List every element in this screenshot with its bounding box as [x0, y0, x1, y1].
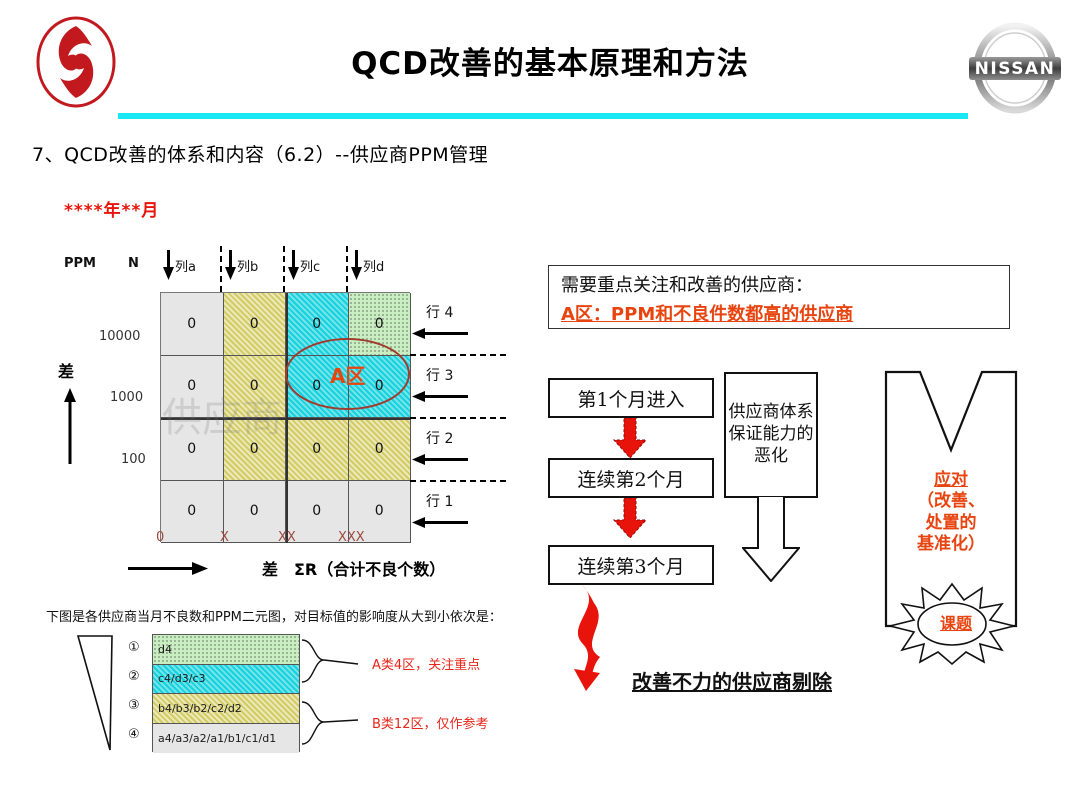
a-zone-label: A区 — [330, 360, 365, 389]
row-threshold-line — [410, 354, 506, 356]
red-down-arrow-icon — [613, 418, 647, 458]
legend-table: d4 c4/d3/c3 b4/b3/b2/c2/d2 a4/a3/a2/a1/b… — [152, 634, 300, 752]
row-label-4: 行 4 — [426, 302, 453, 322]
task-label: 课题 — [932, 610, 980, 634]
title-divider — [118, 113, 968, 119]
response-line-2: （改善、 — [898, 491, 1004, 512]
row-threshold-line — [410, 417, 506, 419]
column-header-c: 列c — [285, 246, 347, 292]
grid-center-hline — [161, 418, 411, 420]
legend-row[interactable]: b4/b3/b2/c2/d2 — [153, 694, 299, 724]
down-arrow-icon — [351, 250, 362, 280]
matrix-cell[interactable]: 0 — [224, 356, 287, 419]
column-label: 列c — [300, 256, 320, 275]
down-arrow-icon — [163, 250, 174, 280]
y-axis-up-arrow-icon — [63, 388, 77, 464]
column-header-a: 列a — [160, 246, 222, 292]
outcome-text: 改善不力的供应商剔除 — [622, 670, 842, 695]
deterioration-box: 供应商体系保证能力的恶化 — [724, 372, 818, 498]
x-axis-right-arrow-icon — [128, 562, 208, 575]
legend-number-4: ④ — [128, 727, 148, 742]
legend-note: 下图是各供应商当月不良数和PPM二元图，对目标值的影响度从大到小依次是： — [46, 606, 502, 625]
y-tick-100: 100 — [121, 452, 146, 467]
y-tick-1000: 1000 — [110, 390, 143, 405]
matrix-cell[interactable]: 0 — [349, 418, 412, 481]
row-left-arrow-icon — [412, 454, 468, 465]
matrix-cell[interactable]: 0 — [161, 293, 224, 356]
x-tick-x: X — [220, 530, 229, 545]
focus-callout-box: 需要重点关注和改善的供应商： A区：PPM和不良件数都高的供应商 — [548, 265, 1010, 329]
y-axis-caption: 差 — [58, 358, 74, 382]
matrix-cell[interactable]: 0 — [161, 481, 224, 544]
column-label: 列d — [363, 256, 384, 275]
matrix-cell[interactable]: 0 — [161, 418, 224, 481]
down-block-arrow-icon — [742, 496, 800, 582]
y-tick-10000: 10000 — [99, 329, 140, 344]
down-arrow-icon — [288, 250, 299, 280]
y-axis-unit: N — [128, 256, 139, 271]
column-divider — [283, 246, 285, 292]
row-left-arrow-icon — [412, 517, 468, 528]
column-header-d: 列d — [348, 246, 410, 292]
column-divider — [220, 246, 222, 292]
slide-header: NISSAN QCD改善的基本原理和方法 — [0, 0, 1080, 128]
flow-step-month-3[interactable]: 连续第3个月 — [548, 545, 714, 585]
x-tick-xx: XX — [278, 530, 296, 545]
curved-red-arrow-icon — [560, 585, 626, 691]
x-tick-0: 0 — [156, 530, 164, 545]
flow-step-month-1[interactable]: 第1个月进入 — [548, 378, 714, 418]
nissan-logo-icon: NISSAN — [963, 20, 1067, 116]
row-label-1: 行 1 — [426, 491, 453, 511]
row-label-2: 行 2 — [426, 428, 453, 448]
column-label: 列a — [175, 256, 196, 275]
column-divider — [346, 246, 348, 292]
matrix-cell[interactable]: 0 — [286, 418, 349, 481]
date-stamp: ****年**月 — [64, 196, 159, 221]
ppm-matrix-chart: PPM N 10000 1000 100 差 列a 列b — [40, 230, 540, 590]
row-left-arrow-icon — [412, 391, 468, 402]
page-title: QCD改善的基本原理和方法 — [250, 38, 850, 83]
svg-text:NISSAN: NISSAN — [975, 59, 1056, 79]
row-threshold-line — [410, 480, 506, 482]
legend-row[interactable]: d4 — [153, 635, 299, 665]
legend-number-3: ③ — [128, 698, 148, 713]
legend-row[interactable]: a4/a3/a2/a1/b1/c1/d1 — [153, 724, 299, 754]
x-tick-xxx: XXX — [338, 530, 365, 545]
callout-line-1: 需要重点关注和改善的供应商： — [561, 271, 997, 297]
priority-wedge-icon — [76, 634, 118, 752]
x-axis-caption: 差 ΣR（合计不良个数） — [262, 556, 445, 580]
column-label: 列b — [237, 256, 258, 275]
matrix-grid: 0 0 0 0 0 0 0 0 0 0 0 0 0 0 0 0 — [160, 292, 410, 542]
response-line-1: 应对 — [898, 470, 1004, 491]
legend-number-2: ② — [128, 669, 148, 684]
legend-brace-icon — [300, 634, 362, 752]
legend-row[interactable]: c4/d3/c3 — [153, 665, 299, 695]
response-line-3: 处置的 — [898, 513, 1004, 534]
matrix-cell[interactable]: 0 — [224, 418, 287, 481]
down-arrow-icon — [225, 250, 236, 280]
dongfeng-logo-icon — [34, 16, 118, 108]
row-label-3: 行 3 — [426, 365, 453, 385]
matrix-column-headers: 列a 列b 列c 列d — [160, 246, 410, 292]
matrix-cell[interactable]: 0 — [224, 293, 287, 356]
response-text: 应对 （改善、 处置的 基准化） — [898, 470, 1004, 555]
section-subtitle: 7、QCD改善的体系和内容（6.2）--供应商PPM管理 — [32, 140, 488, 167]
red-down-arrow-icon — [613, 498, 647, 538]
flow-step-month-2[interactable]: 连续第2个月 — [548, 458, 714, 498]
row-left-arrow-icon — [412, 328, 468, 339]
matrix-cell[interactable]: 0 — [224, 481, 287, 544]
legend-tag-b: B类12区，仅作参考 — [372, 713, 488, 732]
column-header-b: 列b — [222, 246, 284, 292]
matrix-cell[interactable]: 0 — [161, 356, 224, 419]
legend-tag-a: A类4区，关注重点 — [372, 654, 480, 673]
callout-line-2: A区：PPM和不良件数都高的供应商 — [561, 300, 997, 326]
response-line-4: 基准化） — [898, 534, 1004, 555]
y-axis-title: PPM — [64, 256, 96, 271]
legend-number-1: ① — [128, 640, 148, 655]
